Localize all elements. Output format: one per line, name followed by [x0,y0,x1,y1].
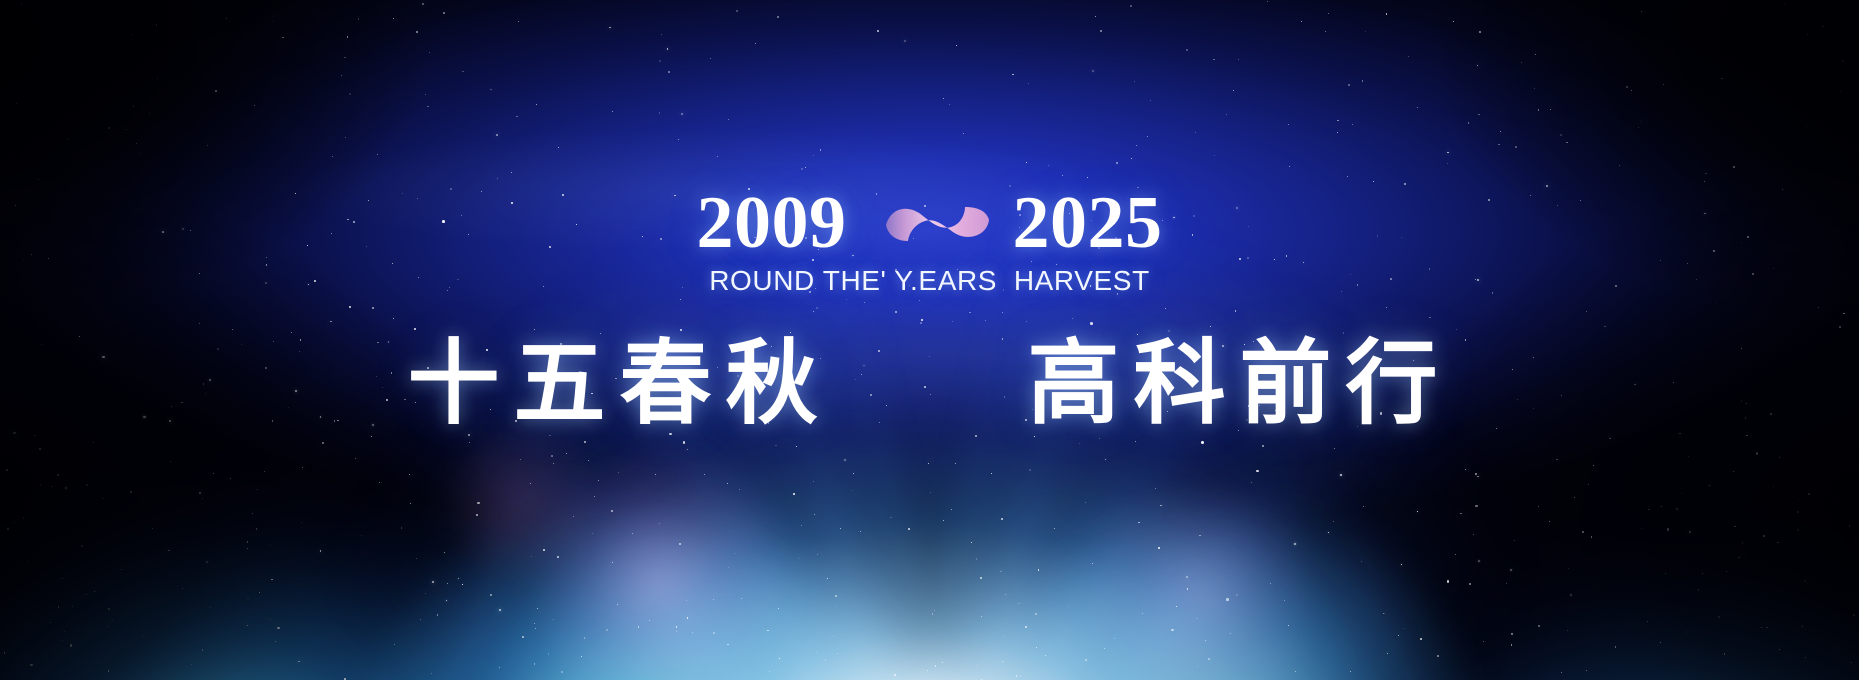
headline-right-phrase: 高科前行 [1028,332,1452,435]
anniversary-year-range: 2009 2025 [0,186,1859,260]
anniversary-banner: 2009 2025 ROUND [0,0,1859,680]
headline-left-phrase: 十五春秋 [407,332,831,435]
end-year: 2025 [1013,186,1163,260]
wave-tilde-icon [877,186,999,260]
banner-content: 2009 2025 ROUND [0,0,1859,680]
start-year: 2009 [697,186,847,260]
banner-subtitle: ROUND THE' Y.EARS HARVEST [0,266,1859,297]
banner-headline: 十五春秋 高科前行 [0,332,1859,435]
